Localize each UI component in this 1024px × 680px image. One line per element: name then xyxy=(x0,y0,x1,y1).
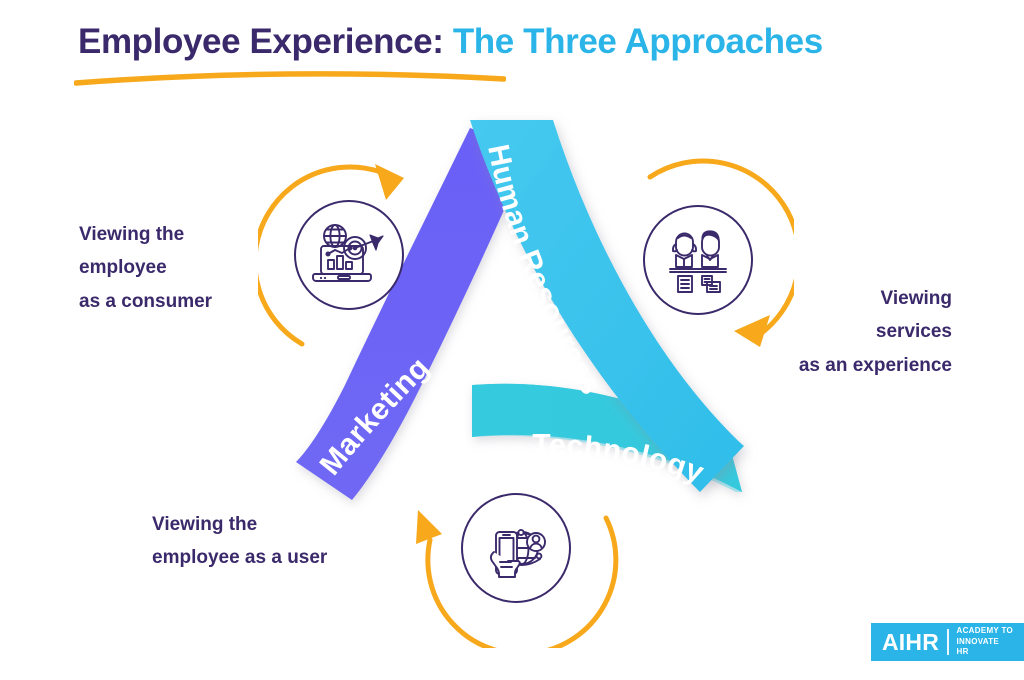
caption-marketing-line-3: as a consumer xyxy=(79,285,279,318)
caption-tech-line-1: Viewing the xyxy=(152,508,402,541)
ribbon-label-human-resources: Human Resources xyxy=(481,142,608,401)
title-text: Employee Experience: The Three Approache… xyxy=(78,22,978,62)
icon-circle-marketing xyxy=(294,200,404,310)
logo-divider xyxy=(947,629,948,655)
ribbon-marketing xyxy=(296,128,530,500)
caption-marketing: Viewing the employee as a consumer xyxy=(79,218,279,318)
caption-hr-line-1: Viewing xyxy=(720,282,952,315)
icon-circle-technology xyxy=(461,493,571,603)
caption-technology: Viewing the employee as a user xyxy=(152,508,402,575)
logo-wordmark: AIHR xyxy=(882,631,939,654)
title-underline-swoosh xyxy=(74,70,506,86)
aihr-logo: AIHR ACADEMY TO INNOVATE HR xyxy=(871,623,1024,661)
title-part-dark: Employee Experience: xyxy=(78,22,444,61)
caption-marketing-line-1: Viewing the xyxy=(79,218,279,251)
hand-smartphone-globe-user-icon xyxy=(480,512,552,584)
caption-hr-line-2: services xyxy=(720,315,952,348)
logo-tagline: ACADEMY TO INNOVATE HR xyxy=(957,626,1013,658)
ribbon-label-marketing: Marketing xyxy=(313,351,436,481)
laptop-chart-globe-target-icon xyxy=(312,218,386,292)
caption-human-resources: Viewing services as an experience xyxy=(720,282,952,382)
logo-tagline-line-2: INNOVATE HR xyxy=(957,637,1000,657)
ribbon-technology xyxy=(472,384,742,492)
logo-tagline-line-1: ACADEMY TO xyxy=(957,626,1014,635)
infographic-canvas: Employee Experience: The Three Approache… xyxy=(0,0,1024,680)
caption-tech-line-2: employee as a user xyxy=(152,541,402,574)
page-title: Employee Experience: The Three Approache… xyxy=(78,22,978,62)
caption-hr-line-3: as an experience xyxy=(720,349,952,382)
caption-marketing-line-2: employee xyxy=(79,251,279,284)
ribbon-label-technology: Technology xyxy=(532,429,708,490)
title-part-blue: The Three Approaches xyxy=(453,22,823,61)
